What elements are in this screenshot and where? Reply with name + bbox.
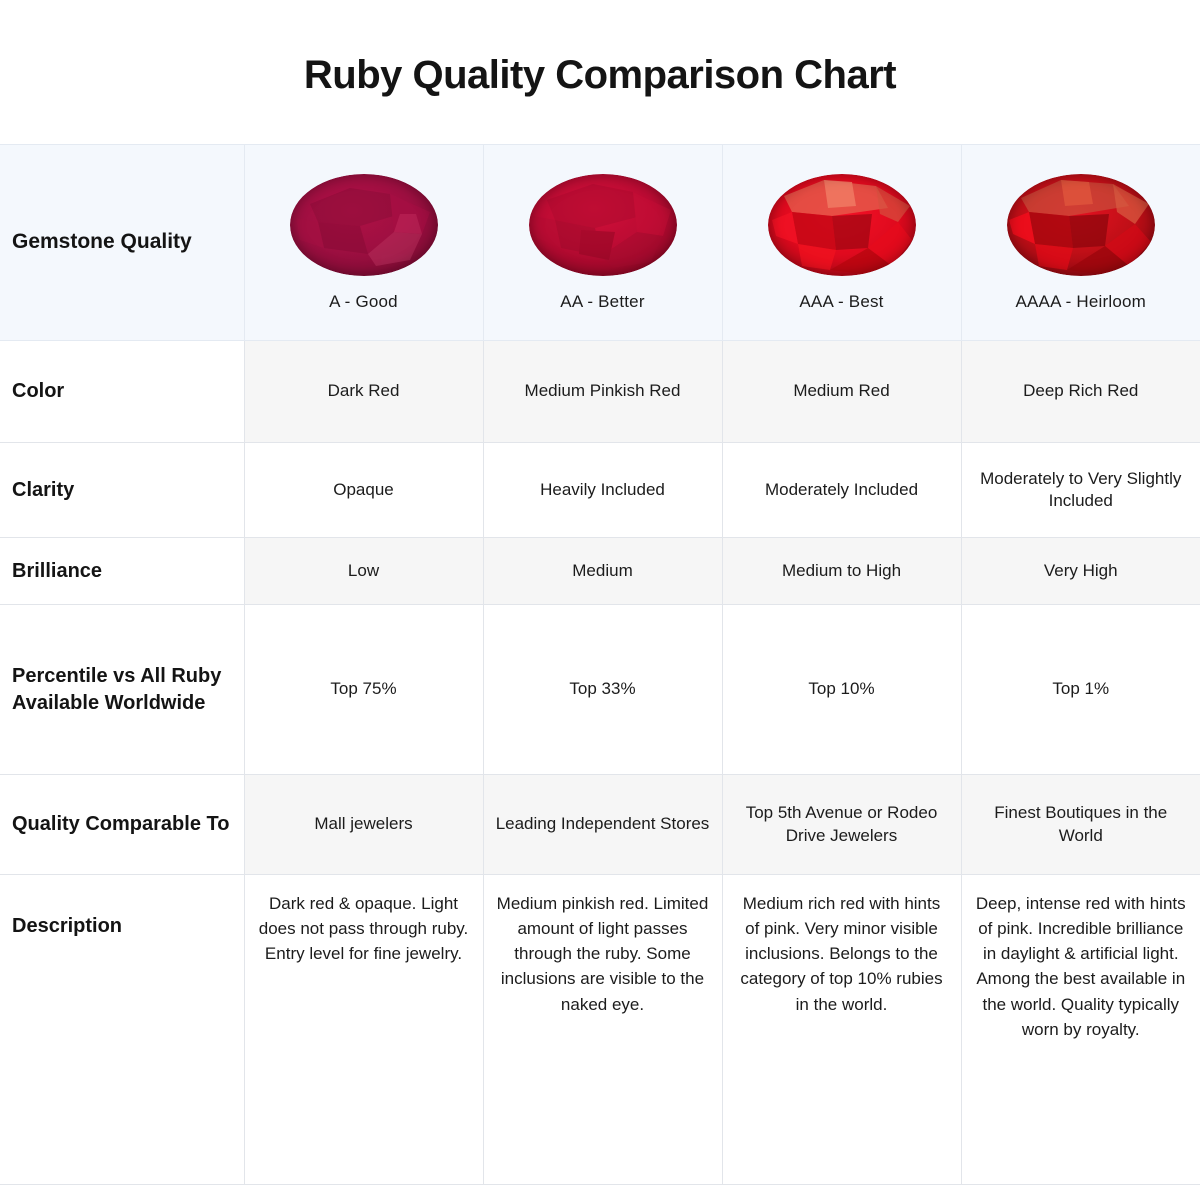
table-row-percentile: Percentile vs All Ruby Available Worldwi…: [0, 605, 1200, 775]
gem-caption-aa: AA - Better: [560, 292, 644, 312]
row-label-brilliance: Brilliance: [0, 538, 244, 605]
ruby-gem-aa: [529, 174, 677, 276]
cell-color-aaa: Medium Red: [722, 341, 961, 443]
table-row-clarity: Clarity Opaque Heavily Included Moderate…: [0, 443, 1200, 538]
row-label-description: Description: [0, 875, 244, 1185]
cell-description-aaaa: Deep, intense red with hints of pink. In…: [961, 875, 1200, 1185]
table-row-description: Description Dark red & opaque. Light doe…: [0, 875, 1200, 1185]
table-row-color: Color Dark Red Medium Pinkish Red Medium…: [0, 341, 1200, 443]
row-label-clarity: Clarity: [0, 443, 244, 538]
ruby-gem-aaaa: [1007, 174, 1155, 276]
row-label-gemstone-quality: Gemstone Quality: [0, 145, 244, 341]
cell-description-a: Dark red & opaque. Light does not pass t…: [244, 875, 483, 1185]
table-row-brilliance: Brilliance Low Medium Medium to High Ver…: [0, 538, 1200, 605]
cell-percentile-a: Top 75%: [244, 605, 483, 775]
cell-clarity-aa: Heavily Included: [483, 443, 722, 538]
ruby-quality-comparison-page: Ruby Quality Comparison Chart Gemstone Q…: [0, 0, 1200, 1200]
cell-clarity-aaaa: Moderately to Very Slightly Included: [961, 443, 1200, 538]
cell-brilliance-aaaa: Very High: [961, 538, 1200, 605]
gem-caption-aaaa: AAAA - Heirloom: [1015, 292, 1146, 312]
cell-color-aaaa: Deep Rich Red: [961, 341, 1200, 443]
gem-cell-aa: AA - Better: [483, 145, 722, 341]
cell-percentile-aaa: Top 10%: [722, 605, 961, 775]
cell-comparable-aaaa: Finest Boutiques in the World: [961, 775, 1200, 875]
gem-cell-a: A - Good: [244, 145, 483, 341]
row-label-color: Color: [0, 341, 244, 443]
cell-brilliance-aa: Medium: [483, 538, 722, 605]
cell-color-aa: Medium Pinkish Red: [483, 341, 722, 443]
ruby-gem-aaa: [768, 174, 916, 276]
gem-caption-a: A - Good: [329, 292, 398, 312]
table-row-gemstone-quality: Gemstone Quality: [0, 145, 1200, 341]
cell-brilliance-aaa: Medium to High: [722, 538, 961, 605]
row-label-percentile: Percentile vs All Ruby Available Worldwi…: [0, 605, 244, 775]
table-row-quality-comparable-to: Quality Comparable To Mall jewelers Lead…: [0, 775, 1200, 875]
row-label-quality-comparable-to: Quality Comparable To: [0, 775, 244, 875]
cell-clarity-aaa: Moderately Included: [722, 443, 961, 538]
cell-description-aa: Medium pinkish red. Limited amount of li…: [483, 875, 722, 1185]
cell-comparable-a: Mall jewelers: [244, 775, 483, 875]
cell-percentile-aaaa: Top 1%: [961, 605, 1200, 775]
comparison-table: Gemstone Quality: [0, 144, 1200, 1185]
cell-clarity-a: Opaque: [244, 443, 483, 538]
ruby-gem-a: [290, 174, 438, 276]
cell-color-a: Dark Red: [244, 341, 483, 443]
cell-description-aaa: Medium rich red with hints of pink. Very…: [722, 875, 961, 1185]
cell-comparable-aaa: Top 5th Avenue or Rodeo Drive Jewelers: [722, 775, 961, 875]
gem-caption-aaa: AAA - Best: [799, 292, 883, 312]
cell-comparable-aa: Leading Independent Stores: [483, 775, 722, 875]
gem-cell-aaa: AAA - Best: [722, 145, 961, 341]
cell-brilliance-a: Low: [244, 538, 483, 605]
gem-cell-aaaa: AAAA - Heirloom: [961, 145, 1200, 341]
page-title: Ruby Quality Comparison Chart: [0, 0, 1200, 98]
cell-percentile-aa: Top 33%: [483, 605, 722, 775]
